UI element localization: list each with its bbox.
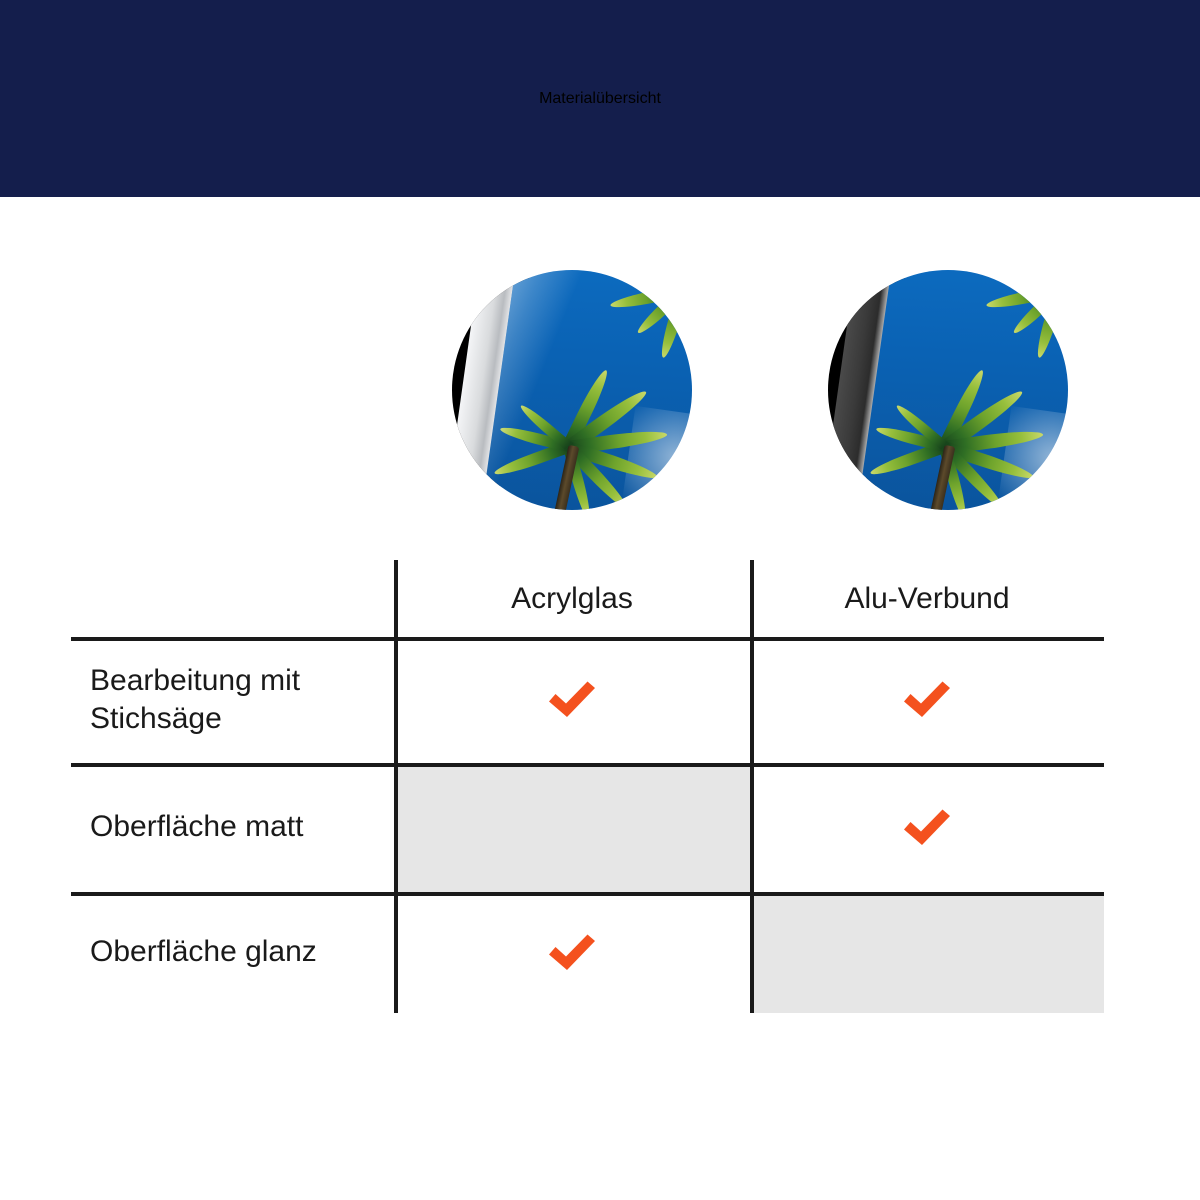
- table-header-row: Acrylglas Alu-Verbund: [71, 560, 1104, 637]
- table-header-cell-alu-verbund: Alu-Verbund: [750, 560, 1104, 637]
- product-preview-acrylglas: [452, 270, 692, 510]
- cell-acrylglas: [394, 637, 750, 763]
- check-icon: [546, 933, 598, 973]
- table-row: Oberfläche glanz: [71, 892, 1104, 1013]
- availability-cell: [394, 637, 750, 763]
- table-rule-horizontal: [71, 763, 1104, 767]
- cell-acrylglas: [394, 892, 750, 1013]
- check-icon: [546, 680, 598, 720]
- table-rule-horizontal: [71, 892, 1104, 896]
- check-icon: [901, 680, 953, 720]
- cell-alu-verbund: [750, 892, 1104, 1013]
- check-icon: [901, 808, 953, 848]
- row-label: Oberfläche glanz: [71, 892, 394, 1013]
- table-rule-vertical: [394, 560, 398, 1013]
- row-label: Bearbeitung mit Stichsäge: [71, 637, 394, 763]
- row-label-cell: Oberfläche glanz: [71, 892, 394, 1013]
- availability-cell-unavailable: [394, 763, 750, 892]
- column-header-label: Acrylglas: [394, 560, 750, 637]
- availability-cell-unavailable: [750, 892, 1104, 1013]
- cell-alu-verbund: [750, 763, 1104, 892]
- table-rule-horizontal: [71, 637, 1104, 641]
- table-header-cell-acrylglas: Acrylglas: [394, 560, 750, 637]
- row-label-cell: Bearbeitung mit Stichsäge: [71, 637, 394, 763]
- column-header-label: Alu-Verbund: [750, 560, 1104, 637]
- table-header-cell-empty: [71, 560, 394, 637]
- availability-cell: [394, 892, 750, 1013]
- row-label: Oberfläche matt: [71, 763, 394, 892]
- panel-face-photo: [854, 270, 1068, 510]
- row-label-cell: Oberfläche matt: [71, 763, 394, 892]
- availability-cell: [750, 637, 1104, 763]
- table-row: Oberfläche matt: [71, 763, 1104, 892]
- page-title: Materialübersicht: [539, 90, 661, 108]
- product-preview-alu-verbund: [828, 270, 1068, 510]
- panel-scene: [452, 270, 692, 510]
- panel-face-photo: [478, 270, 692, 510]
- header-banner: Materialübersicht: [0, 0, 1200, 197]
- availability-cell: [750, 763, 1104, 892]
- table-row: Bearbeitung mit Stichsäge: [71, 637, 1104, 763]
- panel-scene: [828, 270, 1068, 510]
- table-rule-vertical: [750, 560, 754, 1013]
- material-comparison-table: Acrylglas Alu-Verbund Bearbeitung mit St…: [71, 560, 1104, 1013]
- cell-acrylglas: [394, 763, 750, 892]
- cell-alu-verbund: [750, 637, 1104, 763]
